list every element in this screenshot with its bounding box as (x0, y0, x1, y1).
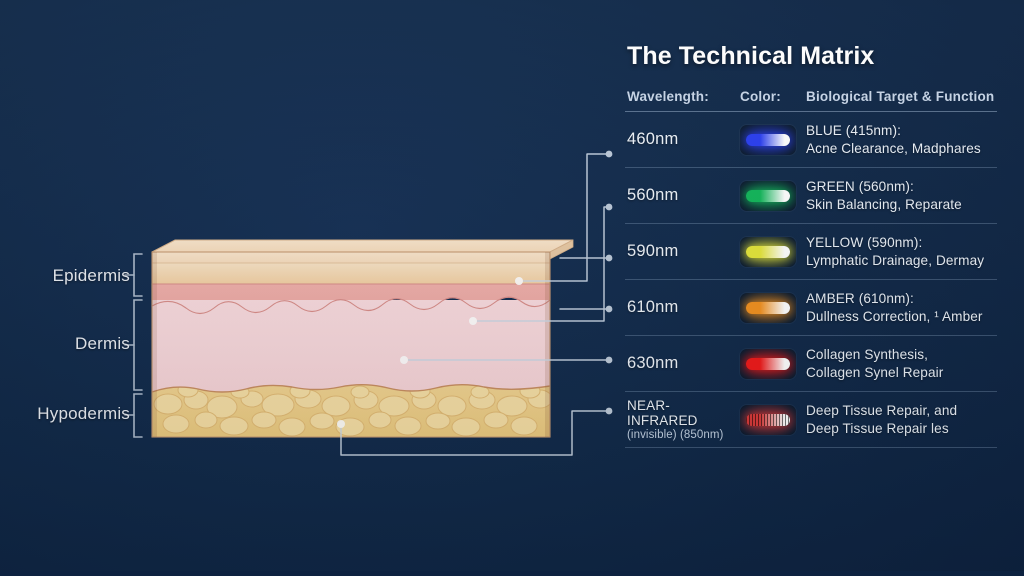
target-cell: AMBER (610nm):Dullness Correction, ¹ Amb… (806, 290, 995, 325)
wavelength-value: 630nm (627, 354, 740, 373)
near-infrared-swatch (740, 405, 796, 435)
wavelength-cell: 460nm (627, 130, 740, 149)
hypodermis-layer (152, 383, 552, 437)
layer-label-dermis: Dermis (20, 334, 130, 354)
technical-matrix: The Technical Matrix Wavelength: Color: … (625, 42, 997, 448)
wavelength-value: 460nm (627, 130, 740, 149)
matrix-header-row: Wavelength: Color: Biological Target & F… (625, 89, 997, 111)
color-cell (740, 181, 806, 211)
wavelength-value: 560nm (627, 186, 740, 205)
blue-swatch (740, 125, 796, 155)
layer-label-epidermis: Epidermis (20, 266, 130, 286)
color-cell (740, 349, 806, 379)
wavelength-cell: 560nm (627, 186, 740, 205)
target-line-1: AMBER (610nm): (806, 290, 995, 308)
column-header-target: Biological Target & Function (806, 89, 995, 104)
matrix-row[interactable]: 560nmGREEN (560nm):Skin Balancing, Repar… (625, 168, 997, 223)
swatch-bar (746, 134, 790, 146)
green-swatch (740, 181, 796, 211)
wavelength-cell: 590nm (627, 242, 740, 261)
amber-swatch (740, 293, 796, 323)
dermis-layer (152, 297, 550, 398)
color-cell (740, 237, 806, 267)
color-cell (740, 293, 806, 323)
column-header-color: Color: (740, 89, 806, 104)
matrix-row[interactable]: 610nmAMBER (610nm):Dullness Correction, … (625, 280, 997, 335)
row-divider (625, 447, 997, 448)
target-line-2: Collagen Synel Repair (806, 364, 995, 382)
target-line-2: Acne Clearance, Madphares (806, 140, 995, 158)
wavelength-value: NEAR-INFRARED (627, 398, 740, 428)
target-line-1: Collagen Synthesis, (806, 346, 995, 364)
matrix-row[interactable]: 460nmBLUE (415nm):Acne Clearance, Madpha… (625, 112, 997, 167)
column-header-wavelength: Wavelength: (627, 89, 740, 104)
skin-figure: Epidermis Dermis Hypodermis (0, 0, 620, 571)
target-line-1: GREEN (560nm): (806, 178, 995, 196)
wavelength-subtext: (invisible) (850nm) (627, 429, 740, 441)
matrix-row[interactable]: 630nmCollagen Synthesis,Collagen Synel R… (625, 336, 997, 391)
wavelength-value: 590nm (627, 242, 740, 261)
target-line-1: BLUE (415nm): (806, 122, 995, 140)
matrix-row[interactable]: 590nmYELLOW (590nm):Lymphatic Drainage, … (625, 224, 997, 279)
matrix-row[interactable]: NEAR-INFRARED(invisible) (850nm)Deep Tis… (625, 392, 997, 447)
swatch-bar (746, 358, 790, 370)
swatch-bar (746, 246, 790, 258)
target-line-2: Skin Balancing, Reparate (806, 196, 995, 214)
swatch-bar (746, 190, 790, 202)
target-cell: BLUE (415nm):Acne Clearance, Madphares (806, 122, 995, 157)
matrix-rows: 460nmBLUE (415nm):Acne Clearance, Madpha… (625, 112, 997, 448)
target-line-2: Deep Tissue Repair les (806, 420, 995, 438)
wavelength-value: 610nm (627, 298, 740, 317)
red-swatch (740, 349, 796, 379)
swatch-bar (746, 302, 790, 314)
target-cell: GREEN (560nm):Skin Balancing, Reparate (806, 178, 995, 213)
swatch-stripes (746, 414, 790, 426)
layer-label-hypodermis: Hypodermis (10, 404, 130, 424)
target-line-1: YELLOW (590nm): (806, 234, 995, 252)
target-cell: Deep Tissue Repair, andDeep Tissue Repai… (806, 402, 995, 437)
target-line-2: Dullness Correction, ¹ Amber (806, 308, 995, 326)
wavelength-cell: 610nm (627, 298, 740, 317)
target-cell: YELLOW (590nm):Lymphatic Drainage, Derma… (806, 234, 995, 269)
matrix-title: The Technical Matrix (627, 42, 997, 71)
wavelength-cell: NEAR-INFRARED(invisible) (850nm) (627, 398, 740, 441)
target-cell: Collagen Synthesis,Collagen Synel Repair (806, 346, 995, 381)
target-line-1: Deep Tissue Repair, and (806, 402, 995, 420)
yellow-swatch (740, 237, 796, 267)
target-line-2: Lymphatic Drainage, Dermay (806, 252, 995, 270)
wavelength-cell: 630nm (627, 354, 740, 373)
color-cell (740, 405, 806, 435)
infographic-canvas: Epidermis Dermis Hypodermis The Technica… (0, 0, 1024, 571)
color-cell (740, 125, 806, 155)
